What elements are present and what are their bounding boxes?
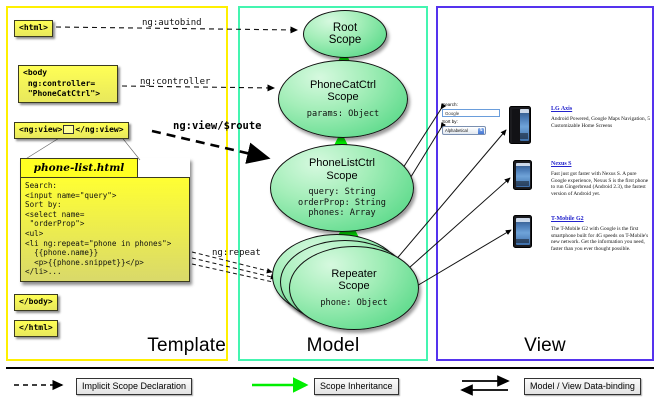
phone-screen [516, 218, 530, 245]
search-input[interactable]: Google [442, 109, 500, 117]
legend-spacer [462, 379, 518, 395]
scope-repeater: Repeater Scope phone: Object [289, 246, 419, 330]
scope-repeater-name-line2: Scope [338, 280, 369, 292]
tag-html-open: <html> [14, 20, 53, 37]
label-ng-autobind: ng:autobind [142, 18, 202, 28]
phone-list-html-note: phone-list.html Search: <input name="que… [20, 158, 190, 282]
diagram-canvas: Template Model View [0, 0, 660, 405]
legend-spacer [252, 379, 308, 395]
legend-label-scope-inheritance: Scope Inheritance [314, 378, 399, 395]
phone-screen [516, 163, 530, 187]
legend-item-scope-inheritance: Scope Inheritance [252, 378, 399, 395]
legend-item-implicit-scope: Implicit Scope Declaration [14, 378, 192, 395]
tag-body-open: <body ng:controller= "PhoneCatCtrl"> [18, 65, 118, 103]
scope-phonecatctrl-props: params: Object [307, 109, 379, 120]
phone-keyboard-slider [512, 109, 520, 143]
scope-repeater-props: phone: Object [320, 298, 387, 309]
label-ng-view-route: ng:view/$route [173, 120, 262, 132]
scope-phonecatctrl-name-line1: PhoneCatCtrl [310, 79, 376, 91]
phone-name-link[interactable]: T-Mobile G2 [551, 216, 651, 224]
scope-phonecatctrl-name: PhoneCatCtrl Scope [310, 79, 376, 104]
ngview-placeholder-icon [63, 125, 74, 134]
phone-thumbnail-nexus-s [513, 160, 532, 190]
phone-list-item: T-Mobile G2 The T-Mobile G2 with Google … [551, 216, 651, 252]
phone-list-item: Nexus S Fast just got faster with Nexus … [551, 161, 651, 197]
phone-thumbnail-t-mobile-g2 [513, 215, 532, 248]
phone-thumbnail-lg-axis [509, 106, 531, 144]
scope-phonelistctrl-name-line1: PhoneListCtrl [309, 157, 375, 169]
phone-name-link[interactable]: Nexus S [551, 161, 651, 169]
chevron-updown-icon: ⇅ [478, 128, 484, 135]
view-search-form: Search: Google Sort by: Alphabetical ⇅ [442, 102, 504, 135]
scope-repeater-name: Repeater Scope [331, 268, 376, 293]
scope-root-name: Root Scope [329, 22, 362, 47]
phone-name-link[interactable]: LG Axis [551, 106, 651, 114]
legend-label-implicit-scope: Implicit Scope Declaration [76, 378, 192, 395]
tag-ngview-close: </ng:view> [75, 125, 123, 134]
panel-model-title: Model [240, 335, 426, 357]
tag-body-close: </body> [14, 294, 58, 311]
scope-phonelistctrl-name-line2: Scope [326, 170, 357, 182]
legend-label-data-binding: Model / View Data-binding [524, 378, 641, 395]
legend-item-data-binding: Model / View Data-binding [462, 378, 641, 395]
phone-snippet: Android Powered, Google Maps Navigation,… [551, 116, 651, 129]
panel-view-title: View [438, 335, 652, 357]
legend-spacer [14, 379, 70, 395]
label-ng-controller: ng:controller [140, 77, 210, 87]
scope-root: Root Scope [303, 10, 387, 58]
scope-phonelistctrl-name: PhoneListCtrl Scope [309, 157, 375, 182]
label-ng-repeat: ng:repeat [212, 248, 261, 258]
phone-screen [520, 109, 529, 141]
tag-html-close: </html> [14, 320, 58, 337]
search-label: Search: [442, 102, 504, 108]
phone-list-html-code: Search: <input name="query"> Sort by: <s… [20, 177, 190, 282]
legend: Implicit Scope Declaration Scope Inherit… [0, 366, 660, 405]
legend-divider [6, 367, 654, 369]
scope-phonelistctrl-props: query: String orderProp: String phones: … [298, 187, 386, 219]
tag-ngview: <ng:view></ng:view> [14, 122, 129, 139]
sort-by-select[interactable]: Alphabetical ⇅ [442, 126, 486, 135]
phone-snippet: The T-Mobile G2 with Google is the first… [551, 226, 651, 252]
phone-snippet: Fast just got faster with Nexus S. A pur… [551, 171, 651, 197]
scope-repeater-name-line1: Repeater [331, 268, 376, 280]
scope-root-name-line1: Root [333, 22, 357, 34]
sort-by-value: Alphabetical [445, 128, 468, 133]
scope-root-name-line2: Scope [329, 34, 362, 46]
scope-phonelistctrl: PhoneListCtrl Scope query: String orderP… [270, 144, 414, 232]
phone-list-item: LG Axis Android Powered, Google Maps Nav… [551, 106, 651, 129]
sort-by-label: Sort by: [442, 119, 504, 125]
scope-phonecatctrl-name-line2: Scope [327, 91, 358, 103]
phone-list-html-filename: phone-list.html [20, 158, 138, 177]
tag-ngview-open: <ng:view> [19, 125, 62, 134]
scope-phonecatctrl: PhoneCatCtrl Scope params: Object [278, 60, 408, 138]
